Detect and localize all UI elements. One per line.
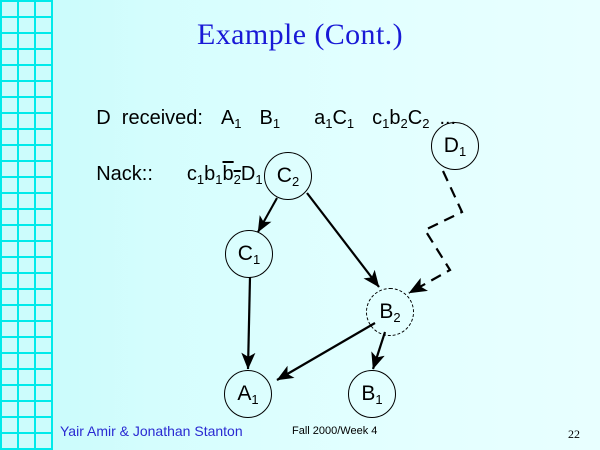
edge-c2-to-b2 [307,193,379,287]
footer-course: Fall 2000/Week 4 [292,425,377,437]
node-label-b1: B1 [361,382,382,406]
received-item-b1: B1 [260,107,281,129]
node-label-d1: D1 [444,134,466,158]
nack-label: Nack:: [96,163,153,185]
nack-item-c1: c1 [187,163,204,185]
edge-c1-to-a1 [248,277,250,369]
footer-page-number: 22 [568,427,580,442]
footer-authors: Yair Amir & Jonathan Stanton [60,423,243,439]
grid-band-right-edge [51,0,53,450]
received-item-c1b2c2: c1b2C2 [372,107,429,129]
slide-canvas: Example (Cont.) D received:A1B1a1C1c1b2C… [0,0,600,450]
decorative-grid-band [0,0,53,450]
received-label: D received: [96,107,203,129]
diagram-node-b2[interactable]: B2 [366,288,414,336]
nack-item-b2-negated: b2 [223,163,241,185]
received-item-a1c1: a1C1 [314,107,354,129]
diagram-node-c1[interactable]: C1 [225,230,273,278]
nack-item-b1: b1 [204,163,222,185]
diagram-node-c2[interactable]: C2 [264,152,312,200]
nack-line: Nack::c1b1b2D1 [74,140,263,209]
node-label-c2: C2 [277,164,299,188]
diagram-node-b1[interactable]: B1 [348,370,396,418]
page-title: Example (Cont.) [0,18,600,52]
edge-b2-to-a1 [277,323,375,380]
node-label-a1: A1 [237,382,258,406]
diagram-edges [0,0,600,450]
received-item-a1: A1 [221,107,242,129]
edge-b2-to-b1 [373,332,385,369]
diagram-node-d1[interactable]: D1 [431,122,479,170]
nack-item-d1: D1 [241,163,263,185]
node-label-b2: B2 [379,300,400,324]
diagram-node-a1[interactable]: A1 [224,370,272,418]
edge-d1-to-b2-zigzag [409,171,462,293]
node-label-c1: C1 [238,242,260,266]
